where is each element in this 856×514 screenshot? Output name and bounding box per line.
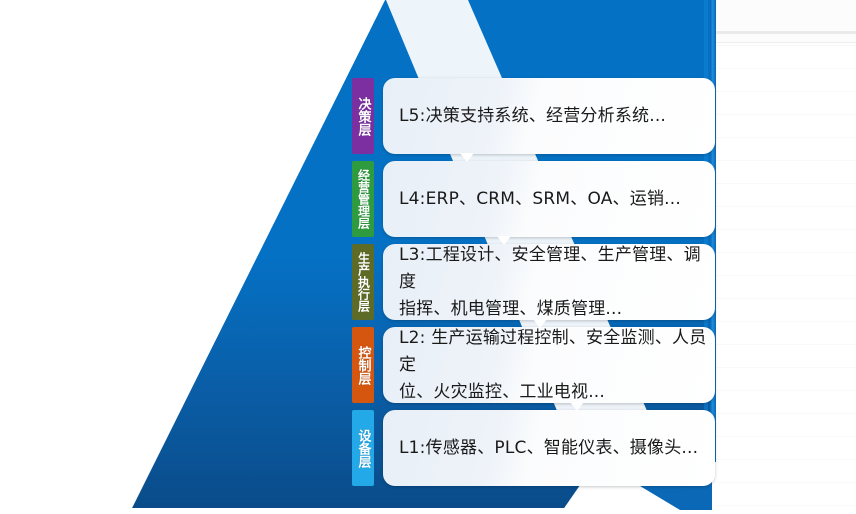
- pyramid-layer-list: 决策层 L5:决策支持系统、经营分析系统... 经营管理层 L4:ERP、CRM…: [0, 0, 856, 514]
- layer-row-l5[interactable]: 决策层 L5:决策支持系统、经营分析系统...: [352, 78, 715, 154]
- layer-row-l1[interactable]: 设备层 L1:传感器、PLC、智能仪表、摄像头...: [352, 410, 715, 486]
- layer-row-l3[interactable]: 生产执行层 L3:工程设计、安全管理、生产管理、调度 指挥、机电管理、煤质管理.…: [352, 244, 715, 320]
- gap-arrow-3: [533, 319, 547, 328]
- layer-tab-l5[interactable]: 决策层: [352, 78, 374, 154]
- layer-tab-l1[interactable]: 设备层: [352, 410, 374, 486]
- layer-card-l1[interactable]: L1:传感器、PLC、智能仪表、摄像头...: [383, 410, 715, 486]
- layer-card-text-l2: L2: 生产运输过程控制、安全监测、人员定 位、火灾监控、工业电视...: [399, 325, 715, 406]
- layer-card-l5[interactable]: L5:决策支持系统、经营分析系统...: [383, 78, 715, 154]
- layer-card-text-l3: L3:工程设计、安全管理、生产管理、调度 指挥、机电管理、煤质管理...: [399, 242, 715, 323]
- layer-row-l4[interactable]: 经营管理层 L4:ERP、CRM、SRM、OA、运销...: [352, 161, 715, 237]
- gap-arrow-4: [570, 402, 584, 411]
- layer-card-l2[interactable]: L2: 生产运输过程控制、安全监测、人员定 位、火灾监控、工业电视...: [383, 327, 715, 403]
- gap-arrow-1: [460, 153, 474, 162]
- layer-tab-l4[interactable]: 经营管理层: [352, 161, 374, 237]
- layer-card-text-l4: L4:ERP、CRM、SRM、OA、运销...: [399, 186, 681, 213]
- layer-row-l2[interactable]: 控制层 L2: 生产运输过程控制、安全监测、人员定 位、火灾监控、工业电视...: [352, 327, 715, 403]
- diagram-canvas: 决策层 L5:决策支持系统、经营分析系统... 经营管理层 L4:ERP、CRM…: [0, 0, 856, 514]
- layer-tab-l2[interactable]: 控制层: [352, 327, 374, 403]
- layer-card-text-l5: L5:决策支持系统、经营分析系统...: [399, 103, 666, 130]
- layer-card-l3[interactable]: L3:工程设计、安全管理、生产管理、调度 指挥、机电管理、煤质管理...: [383, 244, 715, 320]
- layer-tab-l3[interactable]: 生产执行层: [352, 244, 374, 320]
- layer-card-text-l1: L1:传感器、PLC、智能仪表、摄像头...: [399, 435, 698, 462]
- layer-card-l4[interactable]: L4:ERP、CRM、SRM、OA、运销...: [383, 161, 715, 237]
- gap-arrow-2: [497, 236, 511, 245]
